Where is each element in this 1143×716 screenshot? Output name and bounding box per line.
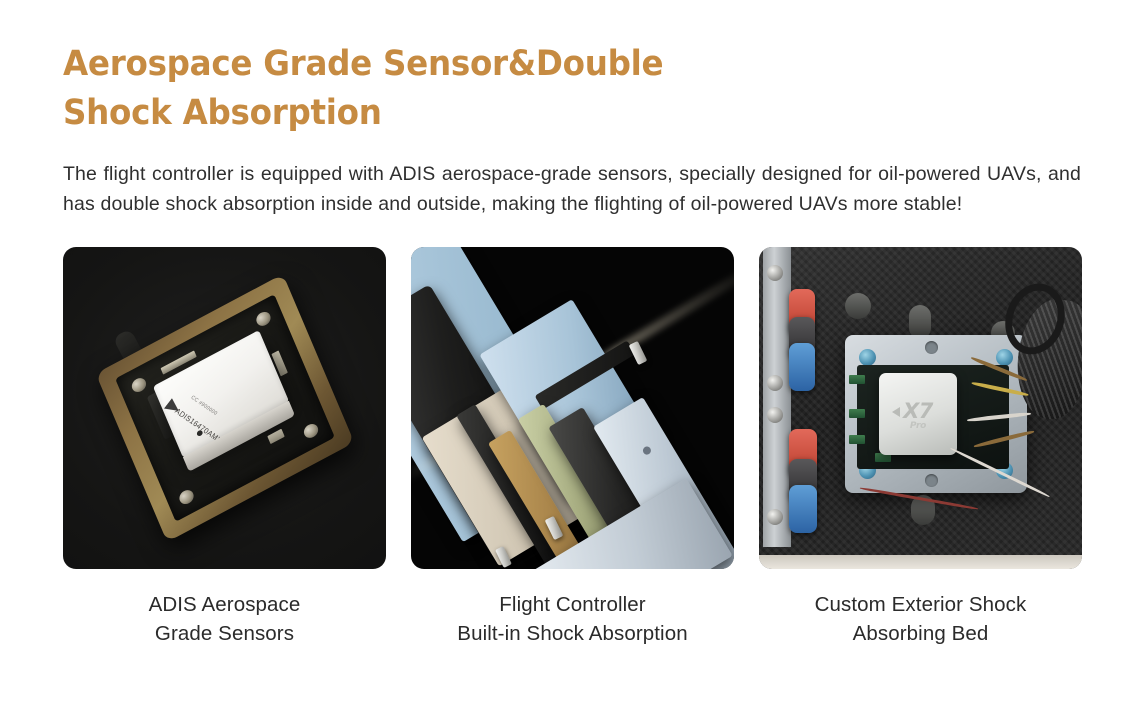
board-connector <box>849 409 865 418</box>
page-title: Aerospace Grade Sensor&Double Shock Abso… <box>63 40 770 138</box>
rail-screw-icon <box>767 265 783 281</box>
board-connector <box>849 435 865 444</box>
x7-flight-controller: X7 Pro <box>879 373 957 455</box>
bed-hole <box>925 474 938 487</box>
product-feature-page: Aerospace Grade Sensor&Double Shock Abso… <box>0 0 1143 716</box>
pcb-mount-hole <box>177 488 195 507</box>
damper-grommet-icon <box>859 349 876 366</box>
damper-grommet-icon <box>996 349 1013 366</box>
power-connector-blue <box>789 343 815 391</box>
feature-card-builtin-shock: Flight Controller Built-in Shock Absorpt… <box>411 247 734 648</box>
adis-sensor-image: ADIS16470AMLZ CC #900000 <box>63 247 386 569</box>
board-connector <box>849 375 865 384</box>
pcb-mount-hole <box>129 376 147 395</box>
damper-post <box>909 305 931 339</box>
flight-controller-exploded-image <box>411 247 734 569</box>
rail-screw-icon <box>767 509 783 525</box>
photo-bottom-edge <box>759 555 1082 569</box>
feature-card-adis-sensor: ADIS16470AMLZ CC #900000 ADIS Aerospace … <box>63 247 386 648</box>
controller-variant-label: Pro <box>879 421 957 431</box>
airframe-rail <box>763 247 791 547</box>
rail-screw-icon <box>767 375 783 391</box>
intro-paragraph: The flight controller is equipped with A… <box>63 159 1081 219</box>
base-plate-hole <box>641 445 652 456</box>
controller-model-label: X7 <box>879 402 957 421</box>
module-part-number-label: ADIS16470AMLZ <box>173 407 227 448</box>
shock-absorbing-bed-image: X7 Pro <box>759 247 1082 569</box>
module-code-label: CC #900000 <box>189 395 218 417</box>
pcb-mount-hole <box>301 421 319 440</box>
power-connector-blue <box>789 485 817 533</box>
module-pin-marker-icon <box>196 429 203 437</box>
feature-card-caption: Flight Controller Built-in Shock Absorpt… <box>408 590 738 648</box>
feature-card-exterior-bed: X7 Pro Custom Exterior Shock Absorbing B… <box>759 247 1082 648</box>
feature-card-caption: Custom Exterior Shock Absorbing Bed <box>756 590 1086 648</box>
feature-card-row: ADIS16470AMLZ CC #900000 ADIS Aerospace … <box>63 247 1082 648</box>
damper-post <box>845 293 871 319</box>
pcb-pad <box>267 429 285 444</box>
pcb-mount-hole <box>254 309 272 328</box>
rail-screw-icon <box>767 407 783 423</box>
bed-hole <box>925 341 938 354</box>
assembly-screw-icon <box>629 341 648 365</box>
feature-card-caption: ADIS Aerospace Grade Sensors <box>60 590 390 648</box>
